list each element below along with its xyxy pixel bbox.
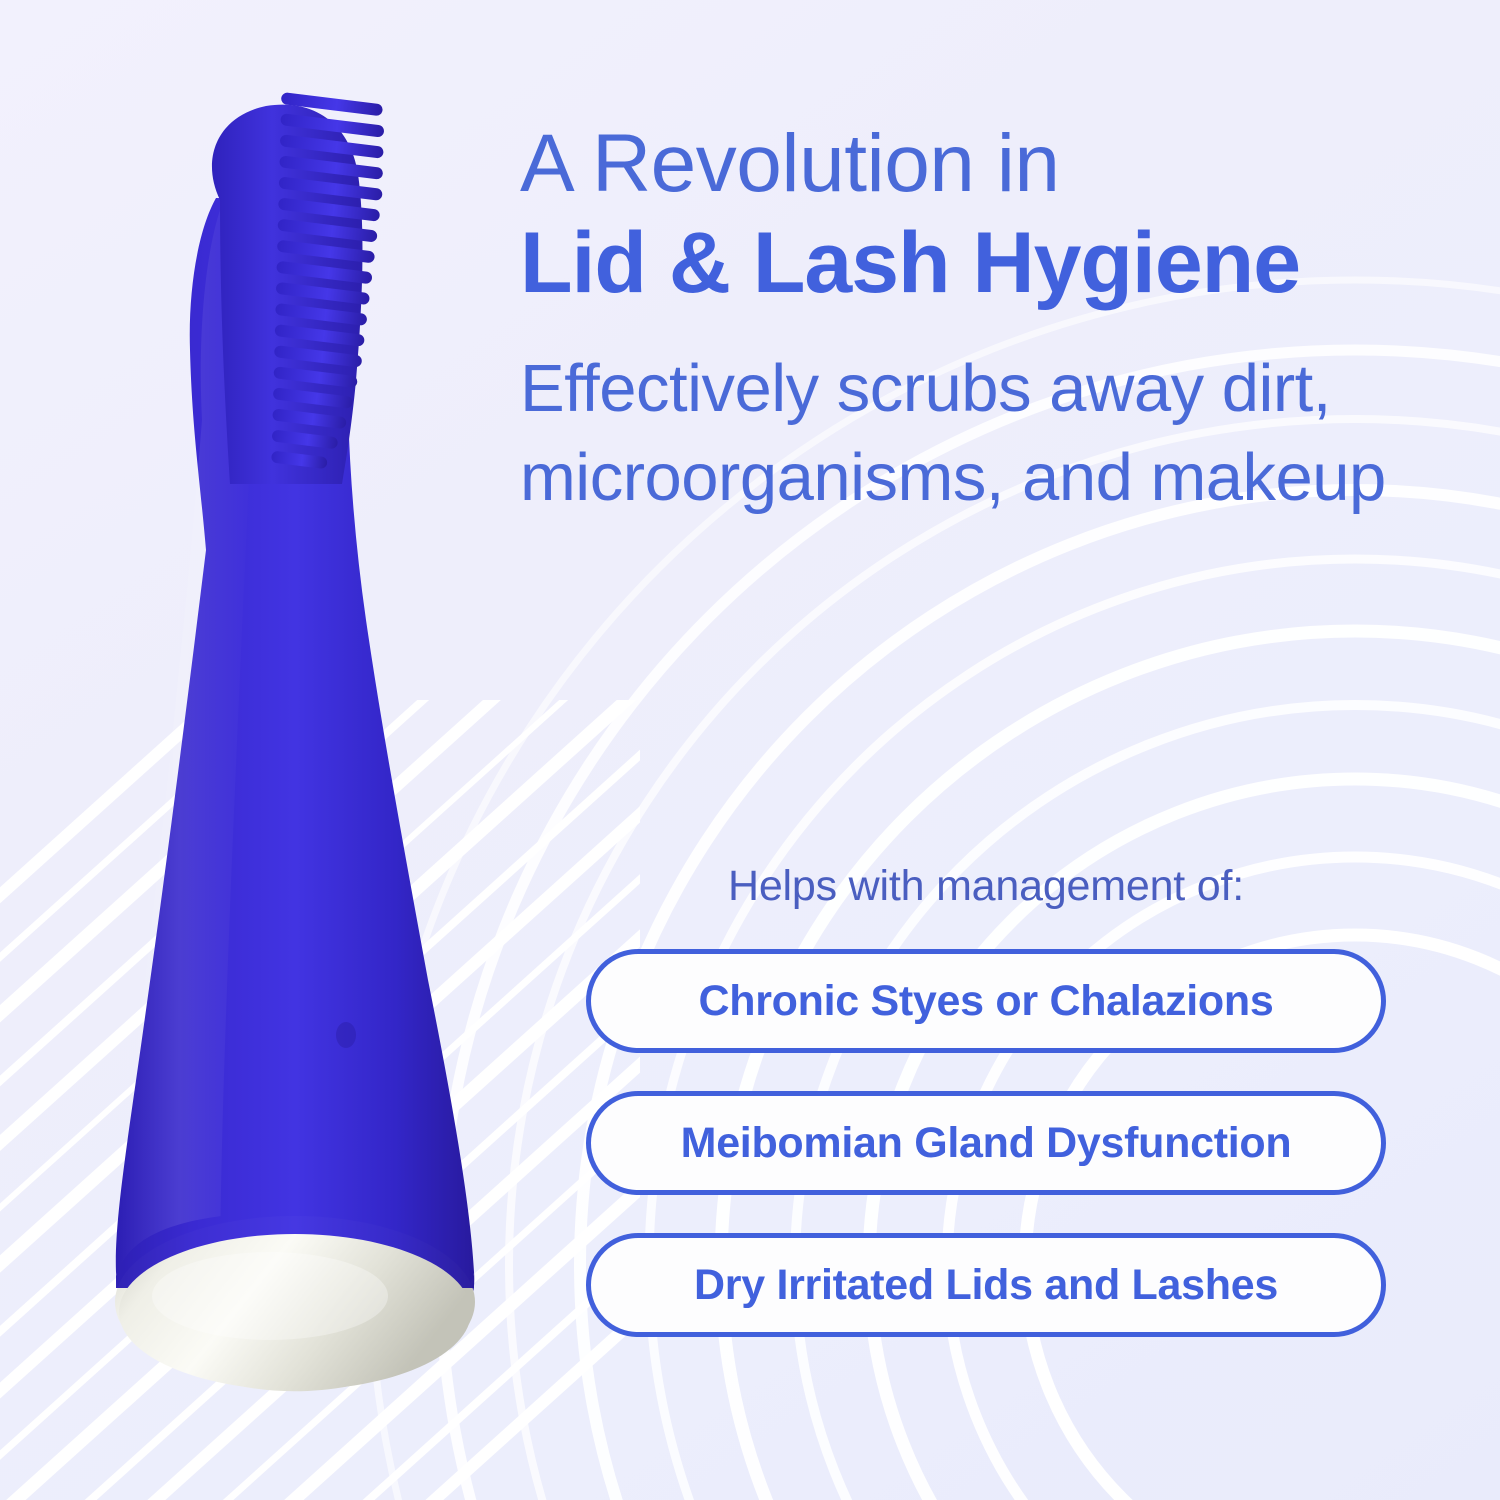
handle-emboss-mark: [336, 1022, 356, 1048]
subcopy-text: Effectively scrubs away dirt, microorgan…: [520, 344, 1420, 524]
condition-pill-label: Dry Irritated Lids and Lashes: [694, 1261, 1278, 1310]
condition-pill[interactable]: Dry Irritated Lids and Lashes: [586, 1233, 1386, 1337]
headline-line-2: Lid & Lash Hygiene: [520, 214, 1440, 314]
copy-block: A Revolution in Lid & Lash Hygiene Effec…: [520, 118, 1440, 523]
headline-line-1: A Revolution in: [520, 118, 1440, 210]
condition-pill[interactable]: Chronic Styes or Chalazions: [586, 949, 1386, 1053]
condition-pill[interactable]: Meibomian Gland Dysfunction: [586, 1091, 1386, 1195]
base-specular-highlight: [152, 1252, 388, 1340]
conditions-section: Helps with management of: Chronic Styes …: [586, 862, 1386, 1337]
condition-pill-label: Chronic Styes or Chalazions: [699, 977, 1274, 1026]
condition-pill-label: Meibomian Gland Dysfunction: [681, 1119, 1292, 1168]
product-image: [70, 80, 530, 1420]
product-marketing-banner: A Revolution in Lid & Lash Hygiene Effec…: [0, 0, 1500, 1500]
conditions-label: Helps with management of:: [586, 862, 1386, 911]
